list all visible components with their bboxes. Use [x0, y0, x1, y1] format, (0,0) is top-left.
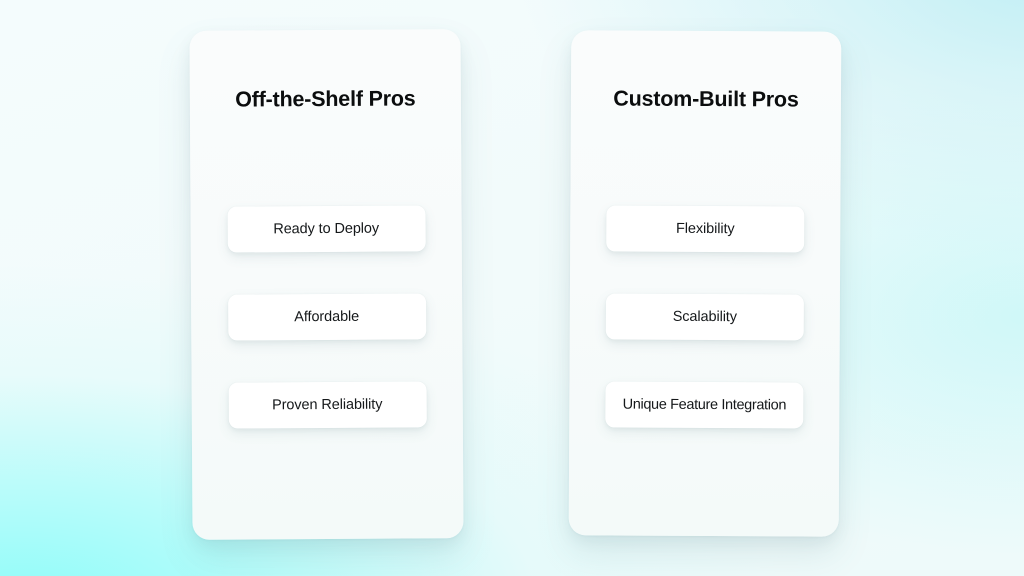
card-title-off-the-shelf: Off-the-Shelf Pros: [190, 86, 461, 113]
pill-item-label: Ready to Deploy: [273, 221, 379, 238]
card-off-the-shelf[interactable]: Off-the-Shelf Pros Ready to Deploy Affor…: [189, 29, 463, 540]
pill-list-custom-built: Flexibility Scalability Unique Feature I…: [569, 205, 840, 428]
pill-item[interactable]: Affordable: [228, 293, 426, 340]
pill-item-label: Unique Feature Integration: [623, 397, 786, 414]
pill-item[interactable]: Proven Reliability: [228, 381, 426, 428]
pill-item[interactable]: Flexibility: [606, 205, 804, 252]
pill-item-label: Scalability: [673, 309, 737, 325]
slide-canvas: Off-the-Shelf Pros Ready to Deploy Affor…: [0, 0, 1024, 576]
card-title-custom-built: Custom-Built Pros: [571, 86, 841, 112]
pill-item-label: Flexibility: [676, 221, 735, 237]
card-custom-built[interactable]: Custom-Built Pros Flexibility Scalabilit…: [569, 30, 842, 536]
pill-item[interactable]: Ready to Deploy: [227, 205, 425, 252]
pill-item-label: Proven Reliability: [272, 397, 382, 414]
pill-list-off-the-shelf: Ready to Deploy Affordable Proven Reliab…: [191, 205, 463, 429]
pill-item-label: Affordable: [294, 309, 359, 325]
pill-item[interactable]: Unique Feature Integration: [605, 381, 803, 428]
pill-item[interactable]: Scalability: [606, 293, 804, 340]
